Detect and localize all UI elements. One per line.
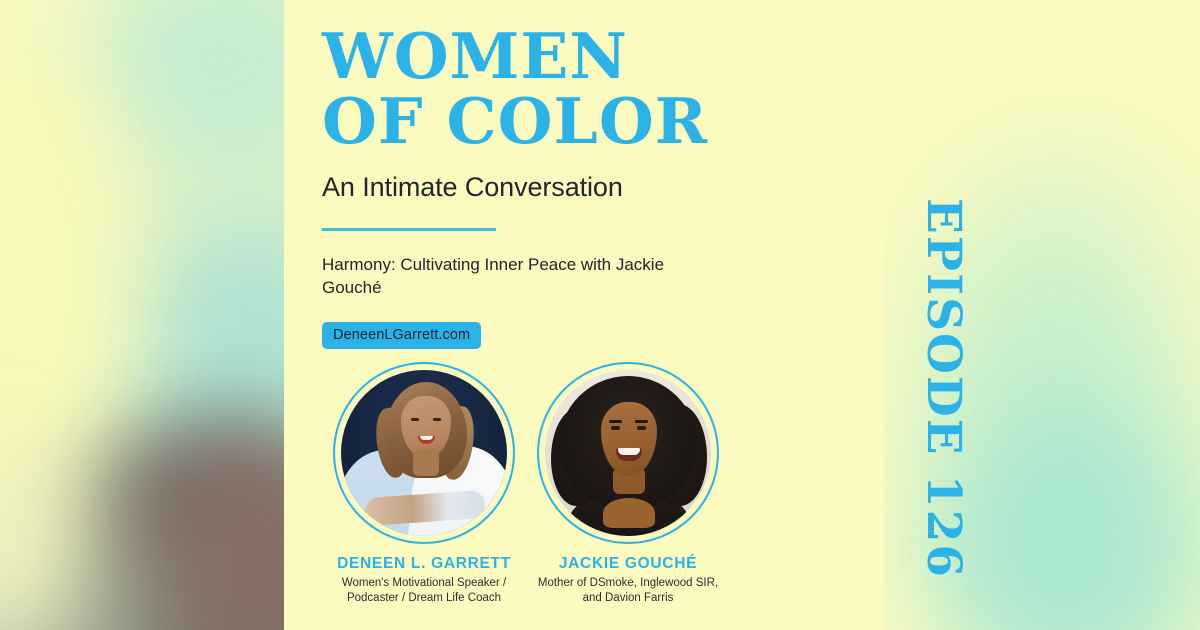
episode-number-vertical: EPISODE 126 [884, 0, 1004, 630]
episode-number-label: EPISODE 126 [917, 197, 972, 578]
guest-card-deneen: DENEEN L. GARRETT Women's Motivational S… [324, 362, 524, 606]
guest-name-deneen: DENEEN L. GARRETT [324, 555, 524, 572]
guest-card-jackie: JACKIE GOUCHÉ Mother of DSmoke, Inglewoo… [528, 362, 728, 606]
guest-portrait-deneen [333, 362, 515, 544]
show-subtitle: An Intimate Conversation [322, 172, 623, 203]
guest-role-deneen: Women's Motivational Speaker / Podcaster… [324, 576, 524, 606]
portrait-ring-icon [537, 362, 719, 544]
show-title-line-1: WOMEN [322, 28, 862, 86]
guest-role-jackie: Mother of DSmoke, Inglewood SIR, and Dav… [528, 576, 728, 606]
website-url-badge[interactable]: DeneenLGarrett.com [322, 322, 481, 349]
portrait-ring-icon [333, 362, 515, 544]
show-title: WOMEN OF COLOR [322, 28, 862, 151]
show-title-line-2: OF COLOR [322, 93, 862, 151]
guest-name-jackie: JACKIE GOUCHÉ [528, 555, 728, 572]
guest-list: DENEEN L. GARRETT Women's Motivational S… [284, 362, 884, 630]
guest-portrait-jackie [537, 362, 719, 544]
title-divider [322, 228, 496, 231]
background-blurred-photo-left [0, 0, 284, 630]
episode-description: Harmony: Cultivating Inner Peace with Ja… [322, 254, 712, 299]
podcast-cover: WOMEN OF COLOR An Intimate Conversation … [0, 0, 1200, 630]
